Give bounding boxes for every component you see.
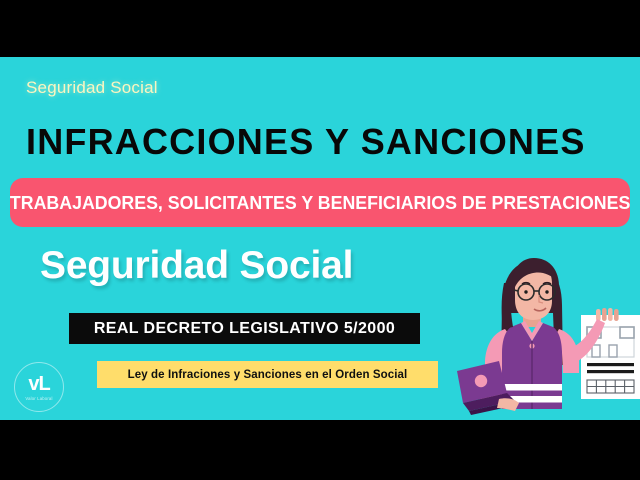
poster-content-area: Seguridad Social INFRACCIONES Y SANCIONE…	[0, 57, 640, 420]
poster-canvas: Seguridad Social INFRACCIONES Y SANCIONE…	[0, 0, 640, 480]
letterbox-bar-bottom	[0, 420, 640, 480]
law-bar: Ley de Infraciones y Sanciones en el Ord…	[97, 361, 438, 388]
illustration-woman-with-laptop	[455, 253, 640, 420]
decree-bar: REAL DECRETO LEGISLATIVO 5/2000	[69, 313, 420, 344]
belt-stripe-upper	[502, 384, 562, 391]
subtitle-banner: TRABAJADORES, SOLICITANTES Y BENEFICIARI…	[10, 178, 630, 227]
subject-title: Seguridad Social	[40, 244, 353, 288]
document-illustration	[581, 315, 640, 399]
decree-bar-text: REAL DECRETO LEGISLATIVO 5/2000	[94, 320, 395, 338]
kicker-label: Seguridad Social	[26, 78, 158, 98]
letterbox-bar-top	[0, 0, 640, 57]
logo-subtitle: Valor Laboral	[25, 396, 52, 401]
brand-logo: vL Valor Laboral	[14, 362, 64, 412]
law-bar-text: Ley de Infraciones y Sanciones en el Ord…	[128, 369, 408, 381]
page-title: INFRACCIONES Y SANCIONES	[26, 124, 616, 160]
logo-monogram: vL	[28, 374, 49, 394]
laptop-logo	[475, 375, 487, 387]
subtitle-banner-text: TRABAJADORES, SOLICITANTES Y BENEFICIARI…	[10, 192, 630, 214]
